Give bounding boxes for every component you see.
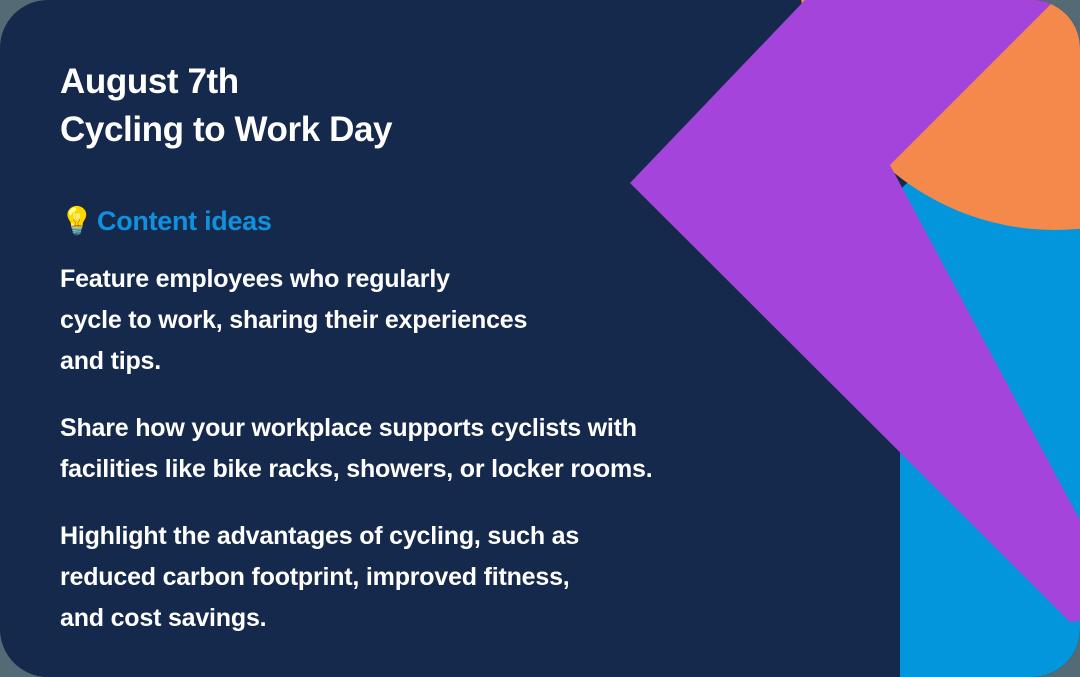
content-idea-item: Feature employees who regularly cycle to…: [60, 259, 760, 382]
content-idea-item: Highlight the advantages of cycling, suc…: [60, 516, 760, 639]
blue-wedge-shape: [900, 10, 1080, 677]
orange-disc-shape: [800, 0, 1080, 230]
content-idea-item: Share how your workplace supports cyclis…: [60, 408, 760, 490]
content-ideas-list: Feature employees who regularly cycle to…: [60, 259, 760, 639]
content-idea-card: August 7th Cycling to Work Day 💡 Content…: [0, 0, 1080, 677]
card-content: August 7th Cycling to Work Day 💡 Content…: [60, 58, 760, 639]
page-title: August 7th Cycling to Work Day: [60, 58, 760, 154]
content-ideas-label: Content ideas: [97, 206, 272, 237]
content-ideas-heading: 💡 Content ideas: [60, 206, 760, 237]
lightbulb-icon: 💡: [60, 208, 88, 235]
